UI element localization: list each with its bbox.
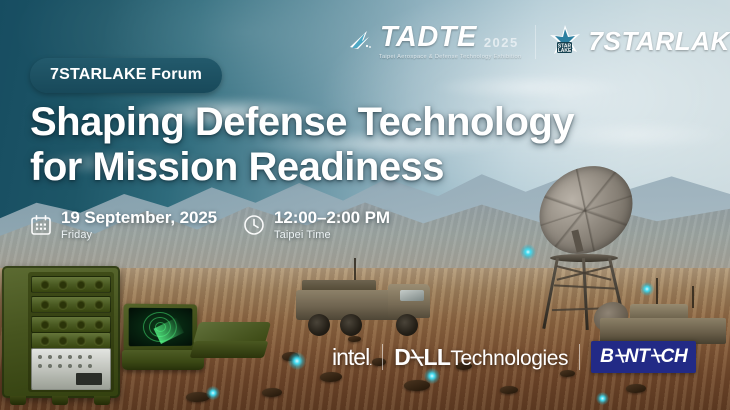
- sponsor-divider: [382, 344, 383, 370]
- forum-promo-banner: TADTE 2025 Taipei Aerospace & Defense Te…: [0, 0, 730, 410]
- sponsor-logo-strip: intel. D⍀LLTechnologies B⍀NT⍀CH: [332, 341, 696, 373]
- tadte-jet-icon: [347, 28, 373, 52]
- logo-lockup-group: TADTE 2025 Taipei Aerospace & Defense Te…: [347, 24, 730, 60]
- event-time: 12:00–2:00 PM Taipei Time: [243, 208, 390, 241]
- page-title: Shaping Defense Technology for Mission R…: [30, 100, 670, 190]
- logo-divider: [535, 25, 536, 59]
- intel-dot: .: [369, 356, 371, 368]
- intel-wordmark: intel: [332, 344, 369, 370]
- dell-technologies-logo: D⍀LLTechnologies: [394, 344, 568, 371]
- event-time-value: 12:00–2:00 PM: [274, 208, 390, 228]
- bontech-logo: B⍀NT⍀CH: [591, 341, 696, 373]
- banner-content: TADTE 2025 Taipei Aerospace & Defense Te…: [0, 0, 730, 410]
- technologies-wordmark: Technologies: [450, 347, 568, 371]
- event-timezone: Taipei Time: [274, 229, 390, 241]
- event-date: 19 September, 2025 Friday: [30, 208, 217, 241]
- 7starlake-wordmark: 7STARLAK: [588, 26, 730, 57]
- 7starlake-star-icon: STAR LAKE: [550, 25, 580, 59]
- svg-text:LAKE: LAKE: [558, 48, 572, 54]
- 7starlake-logo: STAR LAKE 7STARLAK: [550, 25, 730, 59]
- sponsor-divider: [579, 344, 580, 370]
- intel-logo: intel.: [332, 344, 371, 371]
- calendar-icon: [30, 214, 52, 236]
- event-meta-row: 19 September, 2025 Friday 12:00–2:00 PM …: [30, 208, 390, 241]
- headline-line-2: for Mission Readiness: [30, 145, 670, 190]
- dell-wordmark: D⍀LL: [394, 344, 450, 371]
- event-date-value: 19 September, 2025: [61, 208, 217, 228]
- tadte-subtitle: Taipei Aerospace & Defense Technology Ex…: [379, 54, 522, 60]
- clock-icon: [243, 214, 265, 236]
- tadte-year: 2025: [484, 35, 519, 52]
- tadte-logo: TADTE 2025 Taipei Aerospace & Defense Te…: [347, 24, 522, 60]
- forum-badge: 7STARLAKE Forum: [30, 58, 222, 93]
- tadte-wordmark: TADTE: [380, 24, 477, 52]
- event-day-of-week: Friday: [61, 229, 217, 241]
- headline-line-1: Shaping Defense Technology: [30, 100, 670, 145]
